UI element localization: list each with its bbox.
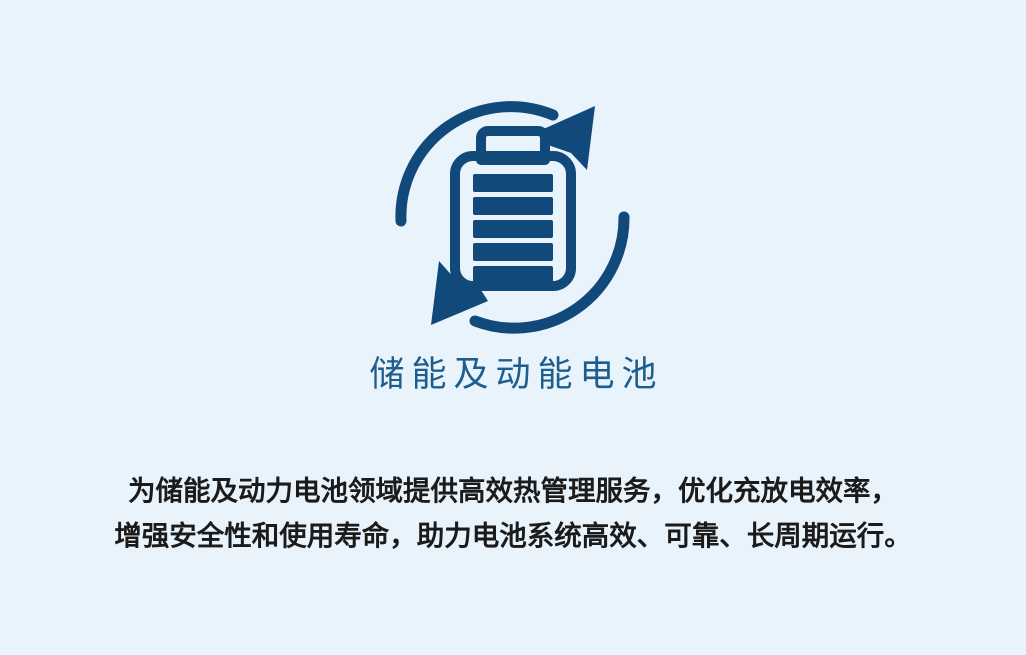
battery-recycle-cycle-icon <box>393 93 633 338</box>
battery-bar <box>473 266 553 284</box>
description-line-1: 为储能及动力电池领域提供高效热管理服务，优化充放电效率， <box>0 468 1026 513</box>
battery-feature-card: 储能及动能电池 为储能及动力电池领域提供高效热管理服务，优化充放电效率， 增强安… <box>0 0 1026 655</box>
cycle-arrows-group <box>401 106 624 328</box>
description-line-2: 增强安全性和使用寿命，助力电池系统高效、可靠、长周期运行。 <box>0 513 1026 558</box>
battery-bar <box>473 197 553 215</box>
feature-description: 为储能及动力电池领域提供高效热管理服务，优化充放电效率， 增强安全性和使用寿命，… <box>0 468 1026 558</box>
battery-bar <box>473 220 553 238</box>
battery-bar <box>473 174 553 192</box>
page-title: 储能及动能电池 <box>0 352 1026 398</box>
battery-bar <box>473 243 553 261</box>
battery-graphic-group <box>455 131 571 286</box>
